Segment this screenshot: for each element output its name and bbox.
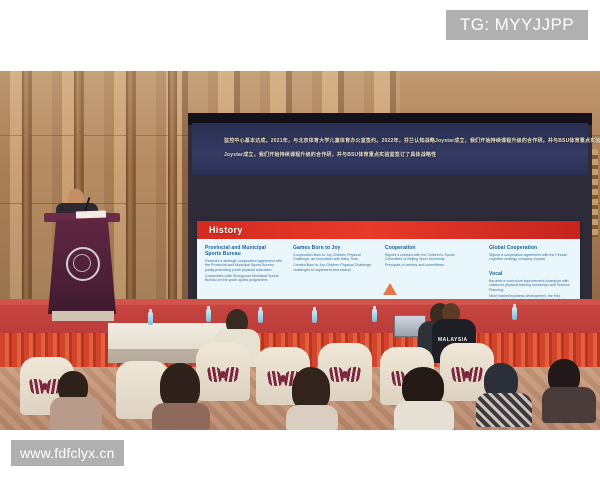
block-body-2: Principals of centres and committees. — [385, 263, 471, 268]
chair-bow — [330, 367, 360, 382]
block-heading: Games Born to Joy — [293, 245, 373, 251]
block-body-2: Created Born to Joy Children Physical Ch… — [293, 263, 373, 272]
page-root: 监控中心基本达成。2021年，与北京体育大学儿童体育办公室签约。2022年，芬兰… — [0, 0, 600, 480]
telegram-watermark: TG: MYYJJPP — [446, 10, 588, 40]
slide-block-games-born-to-joy: Games Born to Joy Cooperation Born to Jo… — [293, 245, 373, 272]
lectern-notes — [76, 210, 106, 218]
block-body: Signed a contract with the Children's Sp… — [385, 253, 471, 262]
block-body: Cooperation Born to Joy Children Physica… — [293, 253, 373, 262]
timeline-arrow-up — [383, 283, 397, 295]
website-watermark: www.fdfclyx.cn — [11, 440, 124, 466]
slide-title-bar — [197, 221, 580, 239]
screen-chinese-line-2: Joystar成立，我们开始持续课程升级的合作研，并与BSU体育重点实验室签订了… — [224, 151, 436, 158]
slide-title: History — [209, 225, 243, 235]
block-heading: Cooperation — [385, 245, 471, 251]
slide-block-cooperation-bsu: Cooperation Signed a contract with the C… — [385, 245, 471, 268]
water-bottle — [148, 312, 153, 325]
water-bottle — [512, 307, 517, 320]
block-body: Became a curriculum improvement champion… — [489, 279, 575, 293]
block-heading: Global Cooperation — [489, 245, 573, 251]
chair-bow — [30, 379, 60, 394]
slide-block-global-cooperation: Global Cooperation Signed a cooperation … — [489, 245, 573, 262]
block-body: Reached a strategic cooperation agreemen… — [205, 259, 283, 273]
block-heading: Provincial and Municipal Sports Bureau — [205, 245, 283, 257]
slide-block-provincial-bureau: Provincial and Municipal Sports Bureau R… — [205, 245, 283, 283]
block-body-2: Cooperation with Zhongyuan Municipal Spo… — [205, 274, 283, 283]
water-bottle — [312, 310, 317, 323]
conference-photo: 监控中心基本达成。2021年，与北京体育大学儿童体育办公室签约。2022年，芬兰… — [0, 71, 600, 430]
block-heading: Vocal — [489, 271, 575, 277]
chair-bow — [452, 367, 482, 382]
chair-bow — [208, 367, 238, 382]
screen-chinese-line-1: 监控中心基本达成。2021年，与北京体育大学儿童体育办公室签约。2022年，芬兰… — [224, 137, 600, 144]
lectern-base — [52, 311, 114, 321]
lectern-crest-icon — [66, 247, 100, 281]
water-bottle — [258, 310, 263, 323]
water-bottle — [372, 309, 377, 322]
block-body: Signed a cooperation agreement with the … — [489, 253, 573, 262]
screen-banner-area: 监控中心基本达成。2021年，与北京体育大学儿童体育办公室签约。2022年，芬兰… — [192, 123, 588, 175]
water-bottle — [206, 309, 211, 322]
